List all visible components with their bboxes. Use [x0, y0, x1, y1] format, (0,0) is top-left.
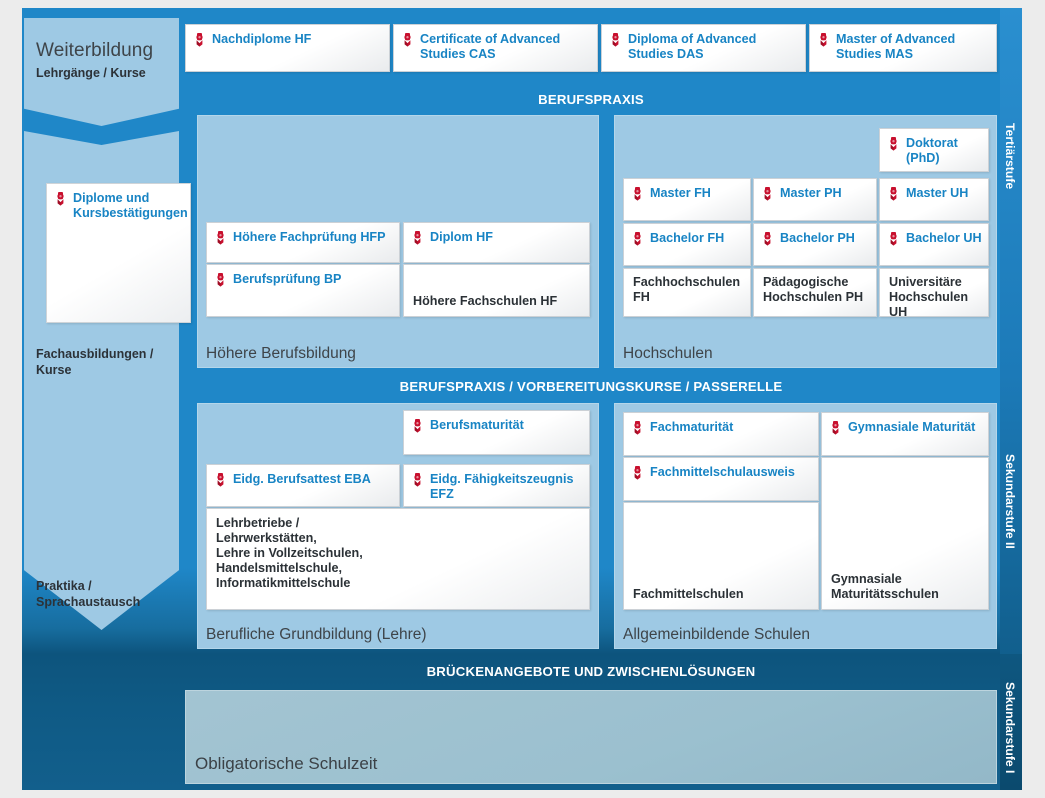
card-fachmaturitaet[interactable]: Fachmaturität: [623, 412, 819, 456]
ribbon-icon: [888, 232, 899, 246]
ribbon-icon: [215, 473, 226, 487]
ribbon-icon: [818, 33, 829, 47]
card-label: Diploma of Advanced Studies DAS: [628, 32, 800, 62]
stage-sekundarstufe-ii: Sekundarstufe II: [1000, 374, 1022, 654]
card-label: Nachdiplome HF: [212, 32, 384, 47]
card-label: Höhere Fachschulen HF: [413, 294, 584, 309]
sidebar-label-praktika: Praktika / Sprachaustausch: [36, 578, 140, 610]
card-obligatorische-schulzeit[interactable]: Obligatorische Schulzeit: [185, 690, 997, 784]
group-label: Berufliche Grundbildung (Lehre): [206, 626, 427, 644]
group-label: Hochschulen: [623, 345, 713, 363]
card-label: Certificate of Advanced Studies CAS: [420, 32, 592, 62]
ribbon-icon: [632, 466, 643, 480]
diplome-und-kursbestaetigungen-card[interactable]: Diplome und Kursbestätigungen: [46, 183, 191, 323]
card-label: Pädagogische Hochschulen PH: [763, 275, 871, 305]
ribbon-icon: [762, 187, 773, 201]
card-fachhochschulen-fh[interactable]: Fachhochschulen FH: [623, 268, 751, 317]
card-label: Eidg. Fähigkeitszeugnis EFZ: [430, 472, 584, 502]
card-master-fh[interactable]: Master FH: [623, 178, 751, 221]
card-universitaere-hochschulen-uh[interactable]: Universitäre Hochschulen UH: [879, 268, 989, 317]
ribbon-icon: [888, 137, 899, 151]
card-paedagogische-hochschulen-ph[interactable]: Pädagogische Hochschulen PH: [753, 268, 877, 317]
card-nachdiplome-hf[interactable]: Nachdiplome HF: [185, 24, 390, 72]
ribbon-icon: [888, 187, 899, 201]
card-label: Master of Advanced Studies MAS: [836, 32, 991, 62]
card-bachelor-ph[interactable]: Bachelor PH: [753, 223, 877, 266]
card-label: Fachmaturität: [650, 420, 813, 435]
card-label: Master UH: [906, 186, 983, 201]
ribbon-icon: [412, 419, 423, 433]
stage-label: Sekundarstufe I: [1003, 682, 1017, 773]
ribbon-icon: [830, 421, 841, 435]
ribbon-icon: [412, 473, 423, 487]
education-system-diagram: Weiterbildung Lehrgänge / Kurse Diplome …: [22, 8, 1022, 790]
card-bachelor-fh[interactable]: Bachelor FH: [623, 223, 751, 266]
stage-label: Sekundarstufe II: [1003, 454, 1017, 549]
card-gymnasiale-maturitaetsschulen[interactable]: Gymnasiale Maturitätsschulen: [821, 457, 989, 610]
stage-label: Tertiärstufe: [1003, 123, 1017, 189]
ribbon-icon: [632, 421, 643, 435]
ribbon-icon: [402, 33, 413, 47]
card-label: Eidg. Berufsattest EBA: [233, 472, 394, 487]
card-hoehere-fachpruefung-hfp[interactable]: Höhere Fachprüfung HFP: [206, 222, 400, 263]
card-diploma-of-advanced-studies-das[interactable]: Diploma of Advanced Studies DAS: [601, 24, 806, 72]
card-label: Gymnasiale Maturität: [848, 420, 983, 435]
card-label: Lehrbetriebe / Lehrwerkstätten, Lehre in…: [216, 516, 584, 591]
card-label: Fachmittelschulen: [633, 587, 813, 602]
card-hoehere-fachschulen-hf[interactable]: Höhere Fachschulen HF: [403, 264, 590, 317]
ribbon-icon: [215, 231, 226, 245]
banner-berufspraxis: BERUFSPRAXIS: [185, 89, 997, 111]
card-label: Diplom HF: [430, 230, 584, 245]
continuing-education-sidebar: Weiterbildung Lehrgänge / Kurse Diplome …: [24, 18, 179, 630]
card-label: Diplome und Kursbestätigungen: [73, 191, 185, 221]
card-eidg-berufsattest-eba[interactable]: Eidg. Berufsattest EBA: [206, 464, 400, 507]
card-label: Bachelor FH: [650, 231, 745, 246]
card-label: Fachhochschulen FH: [633, 275, 745, 305]
card-certificate-of-advanced-studies-cas[interactable]: Certificate of Advanced Studies CAS: [393, 24, 598, 72]
card-gymnasiale-maturitaet[interactable]: Gymnasiale Maturität: [821, 412, 989, 456]
card-eidg-faehigkeitszeugnis-efz[interactable]: Eidg. Fähigkeitszeugnis EFZ: [403, 464, 590, 507]
card-label: Bachelor PH: [780, 231, 871, 246]
group-label: Höhere Berufsbildung: [206, 345, 356, 363]
card-berufspruefung-bp[interactable]: Berufsprüfung BP: [206, 264, 400, 317]
ribbon-icon: [632, 232, 643, 246]
card-berufsmaturitaet[interactable]: Berufsmaturität: [403, 410, 590, 455]
card-label: Doktorat (PhD): [906, 136, 983, 166]
card-fachmittelschulausweis[interactable]: Fachmittelschulausweis: [623, 457, 819, 501]
card-doktorat-phd[interactable]: Doktorat (PhD): [879, 128, 989, 172]
card-label: Bachelor UH: [906, 231, 983, 246]
card-label: Höhere Fachprüfung HFP: [233, 230, 394, 245]
card-master-of-advanced-studies-mas[interactable]: Master of Advanced Studies MAS: [809, 24, 997, 72]
banner-berufspraxis-vorbereitungskurse-passerelle: BERUFSPRAXIS / VORBEREITUNGSKURSE / PASS…: [185, 376, 997, 398]
ribbon-icon: [194, 33, 205, 47]
card-master-ph[interactable]: Master PH: [753, 178, 877, 221]
stage-rail: Tertiärstufe Sekundarstufe II Sekundarst…: [1000, 8, 1022, 790]
sidebar-subtitle: Lehrgänge / Kurse: [36, 66, 146, 80]
ribbon-icon: [55, 192, 66, 206]
secondary-i-area: Obligatorische Schulzeit: [22, 654, 1022, 790]
card-label: Obligatorische Schulzeit: [195, 754, 377, 774]
card-fachmittelschulen[interactable]: Fachmittelschulen: [623, 502, 819, 610]
stage-tertiaerstufe: Tertiärstufe: [1000, 8, 1022, 374]
ribbon-icon: [412, 231, 423, 245]
sidebar-title: Weiterbildung: [36, 40, 153, 62]
card-label: Berufsmaturität: [430, 418, 584, 433]
card-diplom-hf[interactable]: Diplom HF: [403, 222, 590, 263]
card-label: Master FH: [650, 186, 745, 201]
card-master-uh[interactable]: Master UH: [879, 178, 989, 221]
card-label: Fachmittelschulausweis: [650, 465, 813, 480]
card-lehrbetriebe[interactable]: Lehrbetriebe / Lehrwerkstätten, Lehre in…: [206, 508, 590, 610]
card-label: Gymnasiale Maturitätsschulen: [831, 572, 983, 602]
card-bachelor-uh[interactable]: Bachelor UH: [879, 223, 989, 266]
ribbon-icon: [632, 187, 643, 201]
card-label: Universitäre Hochschulen UH: [889, 275, 983, 320]
ribbon-icon: [762, 232, 773, 246]
sidebar-label-fachausbildungen: Fachausbildungen / Kurse: [36, 346, 153, 378]
group-label: Allgemeinbildende Schulen: [623, 626, 810, 644]
stage-sekundarstufe-i: Sekundarstufe I: [1000, 654, 1022, 790]
ribbon-icon: [215, 273, 226, 287]
card-label: Master PH: [780, 186, 871, 201]
card-label: Berufsprüfung BP: [233, 272, 394, 287]
ribbon-icon: [610, 33, 621, 47]
